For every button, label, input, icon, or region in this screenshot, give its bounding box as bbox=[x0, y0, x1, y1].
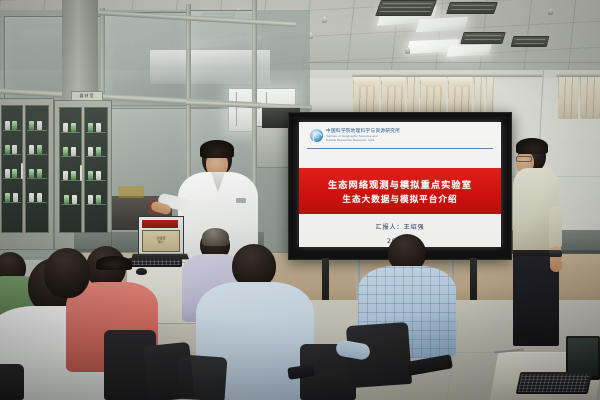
window-mullion bbox=[236, 92, 237, 126]
observer-glasses-icon bbox=[516, 156, 532, 162]
cabinet-glass-door[interactable] bbox=[59, 107, 82, 233]
presenter-shirt-logo bbox=[236, 198, 246, 203]
curtain-panel bbox=[580, 77, 600, 119]
cabinet-glass-door[interactable] bbox=[84, 107, 108, 233]
curtain-swag bbox=[353, 77, 379, 87]
institute-name-en-line2: Natural Resources Research, CAS bbox=[326, 139, 400, 143]
chair[interactable] bbox=[177, 354, 228, 400]
placard-line2: 简介 bbox=[143, 240, 179, 244]
institute-logo-icon bbox=[310, 129, 323, 142]
wall-seam bbox=[300, 62, 600, 63]
fire-sprinkler-icon bbox=[322, 16, 327, 23]
chair[interactable] bbox=[0, 364, 24, 400]
attendee-head bbox=[44, 248, 90, 298]
cabinet-glass-door[interactable] bbox=[25, 105, 49, 233]
air-vent bbox=[375, 0, 437, 16]
slide-title-line2: 生态大数据与模拟平台介绍 bbox=[342, 193, 457, 205]
cabinet-handle[interactable] bbox=[21, 163, 23, 179]
institute-logo: 中国科学院地理科学与资源研究所 Institute of Geographic … bbox=[310, 129, 400, 143]
slide-divider bbox=[307, 148, 493, 149]
lab-equipment-accent bbox=[118, 186, 144, 198]
air-vent bbox=[446, 2, 498, 14]
specimen-cabinet: 器材室 bbox=[54, 100, 112, 250]
fire-sprinkler-icon bbox=[405, 47, 410, 54]
desk-placard: 实验室 简介 bbox=[142, 230, 180, 252]
placard-banner bbox=[142, 220, 178, 228]
curtain-swag bbox=[448, 77, 472, 87]
curtain-swag bbox=[420, 77, 446, 87]
air-vent bbox=[511, 36, 550, 47]
curtain-swag bbox=[381, 77, 405, 87]
curtain-panel bbox=[558, 77, 578, 119]
attendee-hair bbox=[96, 256, 132, 270]
desk-keyboard[interactable] bbox=[516, 372, 593, 394]
photo-scene: 器材室 中国科学院地理科学与资源研究所 Institute of Geograp… bbox=[0, 0, 600, 400]
curtain-panel bbox=[486, 77, 494, 117]
slide-title-banner: 生态网络观测与模拟重点实验室 生态大数据与模拟平台介绍 bbox=[299, 168, 501, 214]
podium-mouse[interactable] bbox=[136, 268, 147, 275]
cabinet-handle[interactable] bbox=[80, 165, 82, 181]
presenter-hair bbox=[200, 140, 234, 158]
slide-title-line1: 生态网络观测与模拟重点实验室 bbox=[328, 177, 472, 191]
air-vent bbox=[460, 32, 505, 44]
cabinet-room-sign: 器材室 bbox=[71, 91, 103, 101]
presentation-slide: 中国科学院地理科学与资源研究所 Institute of Geographic … bbox=[299, 122, 501, 247]
fire-sprinkler-icon bbox=[548, 8, 553, 15]
observer-hair bbox=[516, 138, 548, 154]
observer-arm-sleeve bbox=[549, 206, 562, 250]
monitor-screen bbox=[568, 338, 598, 376]
institute-logo-text: 中国科学院地理科学与资源研究所 Institute of Geographic … bbox=[326, 129, 400, 143]
observer-watch bbox=[549, 250, 562, 257]
specimen-cabinet bbox=[0, 98, 54, 250]
fluorescent-light-panel bbox=[446, 44, 491, 56]
attendee-hair bbox=[202, 228, 229, 246]
slide-presenter-line: 汇报人：王绍强 bbox=[376, 222, 425, 231]
cabinet-glass-door[interactable] bbox=[1, 105, 23, 233]
fluorescent-light-panel bbox=[416, 17, 469, 32]
podium-keyboard[interactable] bbox=[128, 258, 182, 267]
